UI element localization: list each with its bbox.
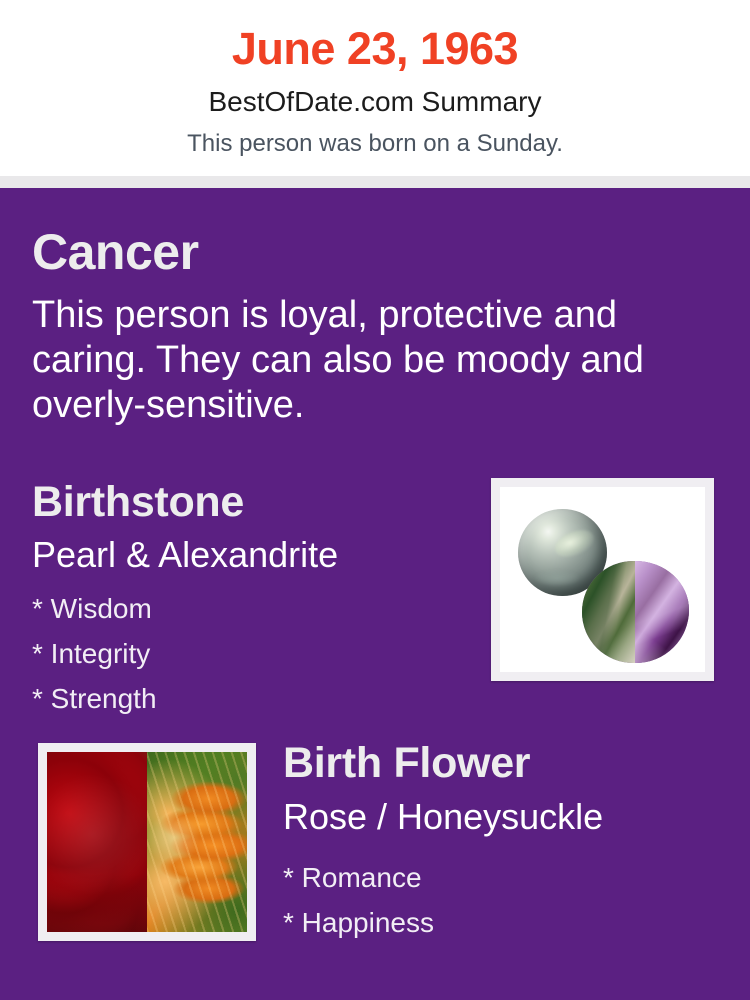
birthstone-name: Pearl & Alexandrite: [32, 534, 338, 576]
header: June 23, 1963 BestOfDate.com Summary Thi…: [0, 0, 750, 176]
birthflower-photo-inner: [47, 752, 247, 932]
zodiac-sign-heading: Cancer: [32, 223, 199, 281]
date-summary-card: June 23, 1963 BestOfDate.com Summary Thi…: [0, 0, 750, 1000]
list-item: * Happiness: [283, 900, 434, 945]
birthflower-trait-list: * Romance * Happiness: [283, 855, 434, 945]
honeysuckle-flower-icon: [147, 752, 247, 932]
list-item: * Strength: [32, 676, 157, 721]
page-title-date: June 23, 1963: [0, 22, 750, 75]
list-item: * Integrity: [32, 631, 157, 676]
birthstone-photo-inner: [500, 487, 705, 672]
list-item: * Romance: [283, 855, 434, 900]
alexandrite-faceted-half: [635, 561, 688, 663]
zodiac-description: This person is loyal, protective and car…: [32, 293, 652, 428]
alexandrite-rough-half: [582, 561, 635, 663]
birthstone-trait-list: * Wisdom * Integrity * Strength: [32, 586, 157, 721]
birthflower-heading: Birth Flower: [283, 738, 530, 788]
birthstone-heading: Birthstone: [32, 477, 244, 527]
header-divider: [0, 176, 750, 188]
list-item: * Wisdom: [32, 586, 157, 631]
site-name: BestOfDate.com Summary: [0, 86, 750, 118]
alexandrite-gem-icon: [582, 561, 689, 663]
birthflower-name: Rose / Honeysuckle: [283, 796, 603, 838]
birthflower-photo: [38, 743, 256, 941]
birth-day-note: This person was born on a Sunday.: [0, 130, 750, 158]
rose-flower-icon: [47, 752, 147, 932]
birthstone-photo: [491, 478, 714, 681]
